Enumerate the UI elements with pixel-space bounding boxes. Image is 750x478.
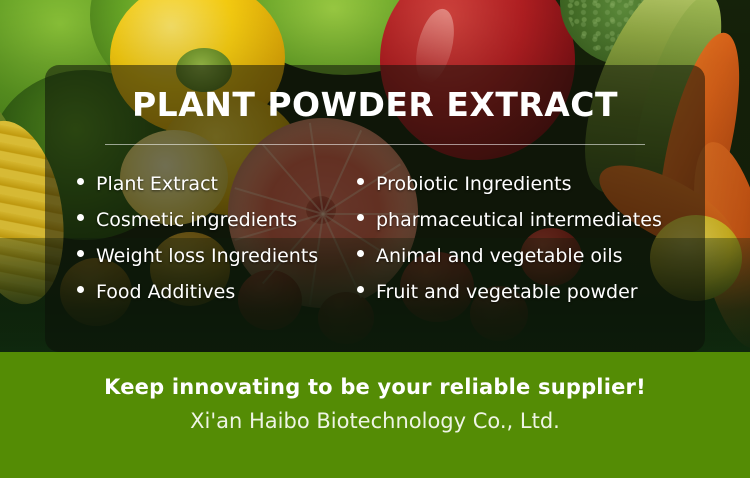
- content-panel: PLANT POWDER EXTRACT Plant Extract Cosme…: [45, 65, 705, 352]
- list-item-label: Weight loss Ingredients: [96, 245, 318, 267]
- list-item-label: Probiotic Ingredients: [376, 173, 572, 195]
- title-divider: [105, 144, 645, 145]
- list-item: Animal and vegetable oils: [357, 245, 705, 281]
- list-item: Weight loss Ingredients: [77, 245, 345, 281]
- bullet-icon: [357, 250, 364, 257]
- list-item-label: Fruit and vegetable powder: [376, 281, 638, 303]
- list-item: Plant Extract: [77, 173, 345, 209]
- company-name: Xi'an Haibo Biotechnology Co., Ltd.: [0, 409, 750, 433]
- plant-powder-extract-banner: PLANT POWDER EXTRACT Plant Extract Cosme…: [0, 0, 750, 478]
- list-item: Cosmetic ingredients: [77, 209, 345, 245]
- list-item: Probiotic Ingredients: [357, 173, 705, 209]
- product-column-right: Probiotic Ingredients pharmaceutical int…: [345, 173, 705, 317]
- list-item-label: Animal and vegetable oils: [376, 245, 623, 267]
- list-item-label: pharmaceutical intermediates: [376, 209, 662, 231]
- bullet-icon: [77, 178, 84, 185]
- bullet-icon: [77, 250, 84, 257]
- list-item: Fruit and vegetable powder: [357, 281, 705, 317]
- list-item-label: Plant Extract: [96, 173, 218, 195]
- page-title: PLANT POWDER EXTRACT: [45, 85, 705, 124]
- list-item-label: Food Additives: [96, 281, 235, 303]
- footer-tagline: Keep innovating to be your reliable supp…: [0, 375, 750, 399]
- bullet-icon: [357, 178, 364, 185]
- list-item: Food Additives: [77, 281, 345, 317]
- product-category-columns: Plant Extract Cosmetic ingredients Weigh…: [45, 173, 705, 317]
- bullet-icon: [357, 214, 364, 221]
- bullet-icon: [77, 286, 84, 293]
- product-column-left: Plant Extract Cosmetic ingredients Weigh…: [45, 173, 345, 317]
- footer-bar: Keep innovating to be your reliable supp…: [0, 352, 750, 478]
- bullet-icon: [357, 286, 364, 293]
- list-item: pharmaceutical intermediates: [357, 209, 705, 245]
- bullet-icon: [77, 214, 84, 221]
- list-item-label: Cosmetic ingredients: [96, 209, 297, 231]
